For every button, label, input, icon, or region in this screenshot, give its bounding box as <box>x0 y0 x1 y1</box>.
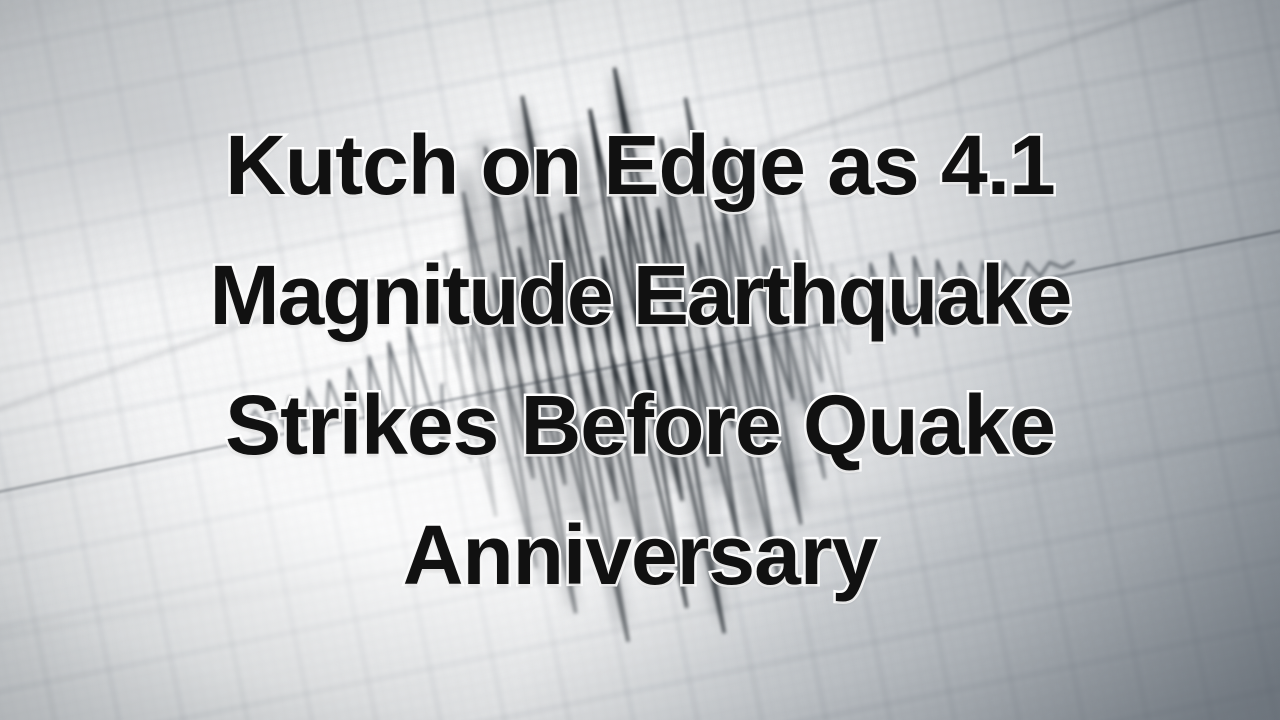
headline-line-4: Anniversary <box>210 490 1071 620</box>
headline-title: Kutch on Edge as 4.1 Magnitude Earthquak… <box>210 100 1071 620</box>
headline-container: Kutch on Edge as 4.1 Magnitude Earthquak… <box>0 0 1280 720</box>
headline-line-3: Strikes Before Quake <box>210 360 1071 490</box>
headline-line-2: Magnitude Earthquake <box>210 230 1071 360</box>
headline-line-1: Kutch on Edge as 4.1 <box>210 100 1071 230</box>
hero-image: Kutch on Edge as 4.1 Magnitude Earthquak… <box>0 0 1280 720</box>
